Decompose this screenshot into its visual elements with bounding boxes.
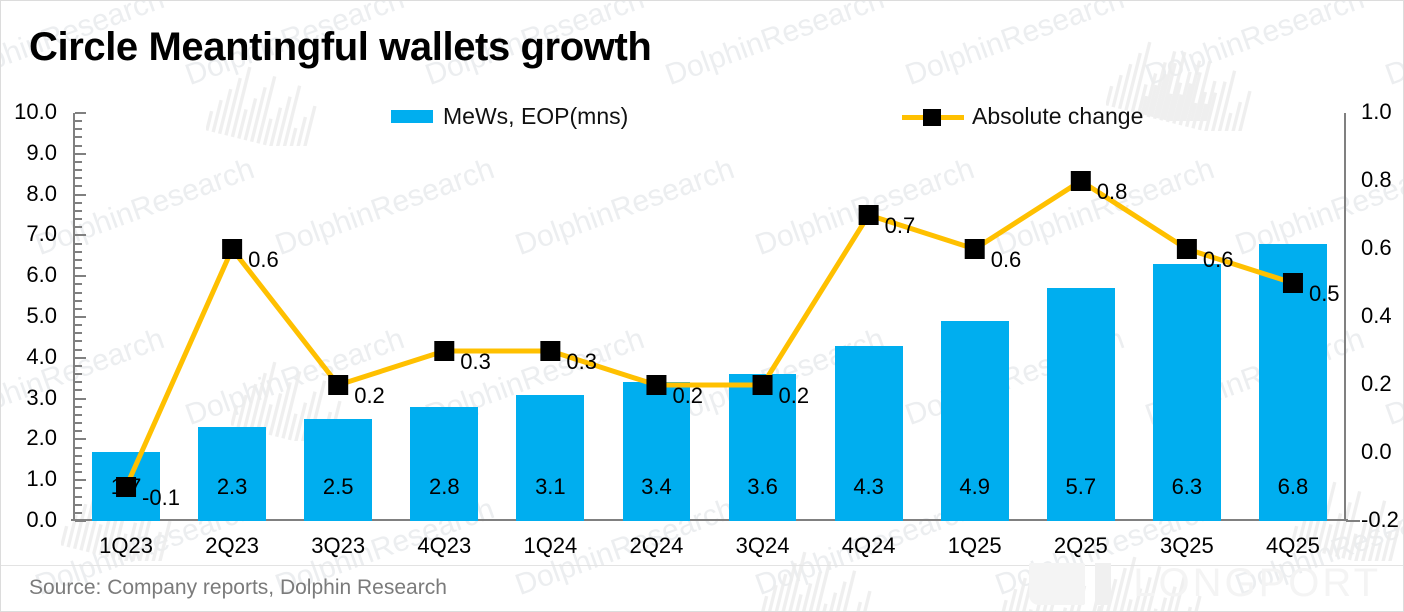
brand-name: LONGPORT <box>1133 561 1381 606</box>
line-marker-2Q25[interactable] <box>1071 171 1091 191</box>
right-axis-label: -0.2 <box>1361 507 1404 533</box>
legend-bar-swatch-icon <box>391 110 433 123</box>
bar-value-label: 3.4 <box>623 474 691 500</box>
watermark-text: DolphinResearch <box>901 1 1129 93</box>
line-marker-4Q24[interactable] <box>859 205 879 225</box>
bar-value-label: 4.9 <box>941 474 1009 500</box>
bar-value-label: 6.3 <box>1153 474 1221 500</box>
right-axis-label: 0.4 <box>1361 303 1404 329</box>
bar-value-label: 3.6 <box>729 474 797 500</box>
x-axis-label-3Q23: 3Q23 <box>285 533 391 559</box>
x-axis-label-1Q25: 1Q25 <box>922 533 1028 559</box>
chart-legend: MeWs, EOP(mns) Absolute change <box>391 103 1121 133</box>
right-axis-label: 0.0 <box>1361 439 1404 465</box>
legend-line-label: Absolute change <box>972 103 1143 130</box>
left-axis-label: 10.0 <box>1 99 57 125</box>
line-marker-2Q23[interactable] <box>222 239 242 259</box>
legend-line-swatch-icon <box>902 109 964 125</box>
left-axis-label: 1.0 <box>1 466 57 492</box>
line-value-label: 0.7 <box>885 213 916 239</box>
line-value-label: 0.6 <box>991 247 1022 273</box>
left-axis-label: 0.0 <box>1 507 57 533</box>
line-series-svg <box>73 113 1346 521</box>
right-axis-label: 0.2 <box>1361 371 1404 397</box>
left-axis-label: 6.0 <box>1 262 57 288</box>
bar-value-label: 6.8 <box>1259 474 1327 500</box>
x-axis-label-3Q25: 3Q25 <box>1134 533 1240 559</box>
bar-value-label: 2.3 <box>198 474 266 500</box>
right-axis-label: 0.6 <box>1361 235 1404 261</box>
legend-item-line[interactable]: Absolute change <box>902 103 1143 130</box>
right-axis-label: 1.0 <box>1361 99 1404 125</box>
line-marker-4Q25[interactable] <box>1283 273 1303 293</box>
line-marker-4Q23[interactable] <box>434 341 454 361</box>
bar-value-label: 3.1 <box>516 474 584 500</box>
brand-watermark: LONGPORT <box>1029 561 1381 606</box>
left-axis-label: 7.0 <box>1 221 57 247</box>
line-marker-3Q24[interactable] <box>753 375 773 395</box>
line-value-label: -0.1 <box>142 485 180 511</box>
absolute-change-line <box>126 181 1293 487</box>
line-value-label: 0.3 <box>566 349 597 375</box>
bar-value-label: 4.3 <box>835 474 903 500</box>
bar-value-label: 2.5 <box>304 474 372 500</box>
line-marker-1Q24[interactable] <box>540 341 560 361</box>
left-axis-label: 9.0 <box>1 140 57 166</box>
left-axis-label: 5.0 <box>1 303 57 329</box>
line-value-label: 0.8 <box>1097 179 1128 205</box>
line-value-label: 0.5 <box>1309 281 1340 307</box>
line-value-label: 0.2 <box>672 383 703 409</box>
bar-value-label: 2.8 <box>410 474 478 500</box>
x-axis-label-4Q25: 4Q25 <box>1240 533 1346 559</box>
line-marker-2Q24[interactable] <box>646 375 666 395</box>
longport-mark-bar-icon <box>1095 563 1111 605</box>
left-axis-label: 8.0 <box>1 181 57 207</box>
right-axis-label: 0.8 <box>1361 167 1404 193</box>
legend-item-bars[interactable]: MeWs, EOP(mns) <box>391 103 628 130</box>
page-title: Circle Meantingful wallets growth <box>29 25 651 70</box>
plot-area <box>73 113 1346 521</box>
source-note: Source: Company reports, Dolphin Researc… <box>29 576 447 600</box>
bar-value-label: 5.7 <box>1047 474 1115 500</box>
right-axis-baseline-tick <box>1346 520 1360 522</box>
watermark-text: DolphinResearch <box>1141 1 1369 93</box>
line-marker-3Q25[interactable] <box>1177 239 1197 259</box>
line-value-label: 0.6 <box>1203 247 1234 273</box>
x-axis-label-2Q23: 2Q23 <box>179 533 285 559</box>
watermark-text: DolphinResearch <box>661 1 889 93</box>
left-axis-label: 4.0 <box>1 344 57 370</box>
line-value-label: 0.2 <box>354 383 385 409</box>
line-value-label: 0.2 <box>779 383 810 409</box>
x-axis-label-4Q23: 4Q23 <box>391 533 497 559</box>
x-axis-label-2Q25: 2Q25 <box>1028 533 1134 559</box>
line-marker-3Q23[interactable] <box>328 375 348 395</box>
x-axis-label-1Q24: 1Q24 <box>497 533 603 559</box>
line-value-label: 0.3 <box>460 349 491 375</box>
chart-root: DolphinResearchDolphinResearchDolphinRes… <box>0 0 1404 612</box>
x-axis-label-2Q24: 2Q24 <box>603 533 709 559</box>
left-axis-label: 3.0 <box>1 385 57 411</box>
line-value-label: 0.6 <box>248 247 279 273</box>
legend-bar-label: MeWs, EOP(mns) <box>443 103 628 130</box>
x-axis-label-3Q24: 3Q24 <box>710 533 816 559</box>
x-axis-label-4Q24: 4Q24 <box>816 533 922 559</box>
watermark-text: DolphinResearch <box>1381 1 1403 93</box>
x-axis-label-1Q23: 1Q23 <box>73 533 179 559</box>
longport-mark-icon <box>1029 563 1085 605</box>
left-axis-label: 2.0 <box>1 425 57 451</box>
line-marker-1Q25[interactable] <box>965 239 985 259</box>
